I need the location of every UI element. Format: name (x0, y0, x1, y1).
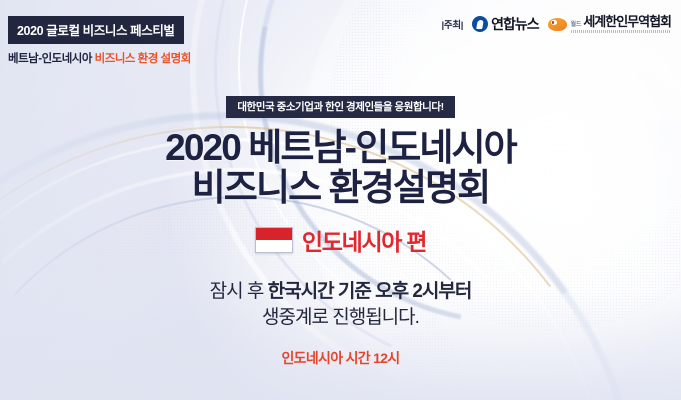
sponsor-bar: |주최| 연합뉴스 월드 세계한인무역협회 (442, 14, 671, 34)
schedule-time: 한국시간 기준 오후 2시부터 (268, 281, 472, 302)
okta-logo-rule (571, 30, 671, 33)
schedule-line-2: 생중계로 진행됩니다. (210, 305, 472, 330)
poster-canvas: 2020 글로컬 비즈니스 페스티벌 베트남-인도네시아 비즈니스 환경 설명회… (0, 0, 681, 400)
event-subtitle-accent: 비즈니스 환경 설명회 (95, 53, 191, 65)
yonhap-logo-icon (472, 16, 488, 32)
country-edition-row: 인도네시아 편 (255, 223, 426, 257)
poster-title-line-2: 비즈니스 환경설명회 (192, 169, 490, 207)
yonhap-news-logo: 연합뉴스 (472, 14, 539, 34)
okta-logo-icon (548, 18, 567, 31)
okta-logo-mark-korean: 월드 (571, 22, 582, 28)
schedule-line-1: 잠시 후 한국시간 기준 오후 2시부터 (210, 279, 472, 304)
schedule-prefix: 잠시 후 (210, 281, 268, 302)
festival-name-chip: 2020 글로컬 비즈니스 페스티벌 (8, 16, 184, 44)
support-message-badge: 대한민국 중소기업과 한인 경제인들을 응원합니다! (226, 96, 454, 118)
event-subtitle-countries: 베트남-인도네시아 (8, 53, 92, 65)
okta-logo: 월드 세계한인무역협회 (548, 15, 671, 33)
event-subtitle: 베트남-인도네시아 비즈니스 환경 설명회 (8, 50, 191, 66)
event-header: 2020 글로컬 비즈니스 페스티벌 베트남-인도네시아 비즈니스 환경 설명회 (8, 16, 191, 66)
okta-logo-text: 세계한인무역협회 (583, 15, 671, 28)
host-label: |주최| (442, 17, 464, 31)
indonesia-flag-icon (255, 227, 293, 253)
poster-title-line-1: 2020 베트남-인도네시아 (165, 129, 516, 167)
okta-logo-wordmark: 월드 세계한인무역협회 (571, 15, 671, 33)
schedule-block: 잠시 후 한국시간 기준 오후 2시부터 생중계로 진행됩니다. (210, 279, 472, 330)
country-edition-label: 인도네시아 편 (302, 223, 426, 257)
local-time-note: 인도네시아 시간 12시 (282, 348, 400, 368)
yonhap-logo-text: 연합뉴스 (491, 14, 539, 34)
